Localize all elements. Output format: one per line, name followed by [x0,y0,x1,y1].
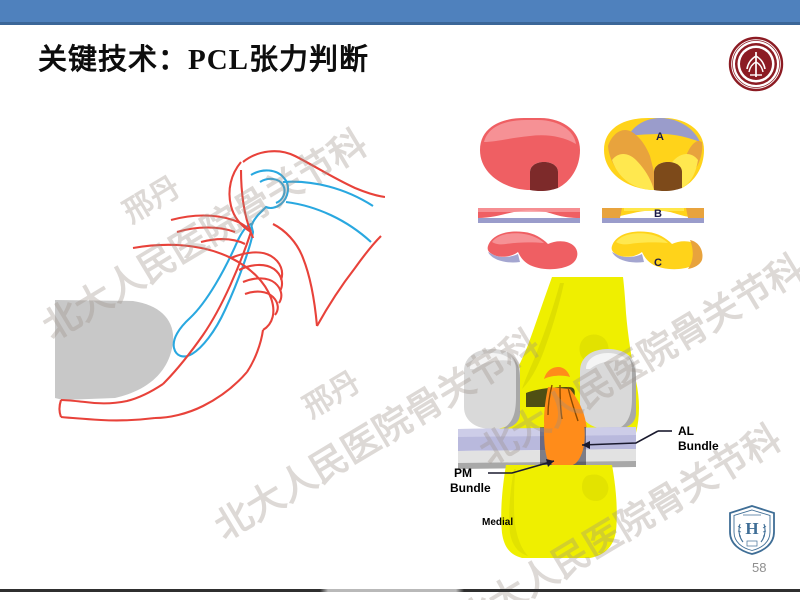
condyle-model-red-profile [478,208,580,223]
medial-label: Medial [482,517,513,528]
pm-bundle-label-line1: PM [454,466,472,480]
exam-table-wedge [55,300,173,400]
hospital-shield-monogram: H [745,519,758,538]
pm-bundle-label-line2: Bundle [450,481,491,495]
posterior-drawer-test-illustration [55,120,385,460]
condyle-model-red-axial [480,118,580,191]
page-number: 58 [752,560,792,575]
peking-university-seal-icon [728,36,784,92]
header-accent-edge [0,22,800,25]
femoral-implant-right [580,349,636,429]
al-bundle-label-line2: Bundle [678,439,719,453]
femoral-implant-left [464,349,520,429]
al-bundle-label-line1: AL [678,424,694,438]
condyle-model-yellow-oblique: C [612,232,703,270]
footer-divider [0,589,800,592]
femoral-condyle-coverage-models: A B C [462,112,712,277]
condyle-label-a: A [656,131,664,143]
condyle-label-b: B [654,208,662,220]
hospital-shield-icon: H [727,504,777,556]
condyle-model-yellow-axial: A [604,118,704,191]
page-title: 关键技术：PCL张力判断 [38,36,369,78]
slide-canvas: 关键技术：PCL张力判断 [0,0,800,600]
condyle-model-red-oblique [488,232,578,270]
condyle-model-yellow-profile: B [602,208,704,223]
condyle-label-c: C [654,257,662,269]
pcl-bundle-anatomy-model: AL Bundle PM Bundle Medial [440,275,725,560]
header-accent-bar [0,0,800,22]
